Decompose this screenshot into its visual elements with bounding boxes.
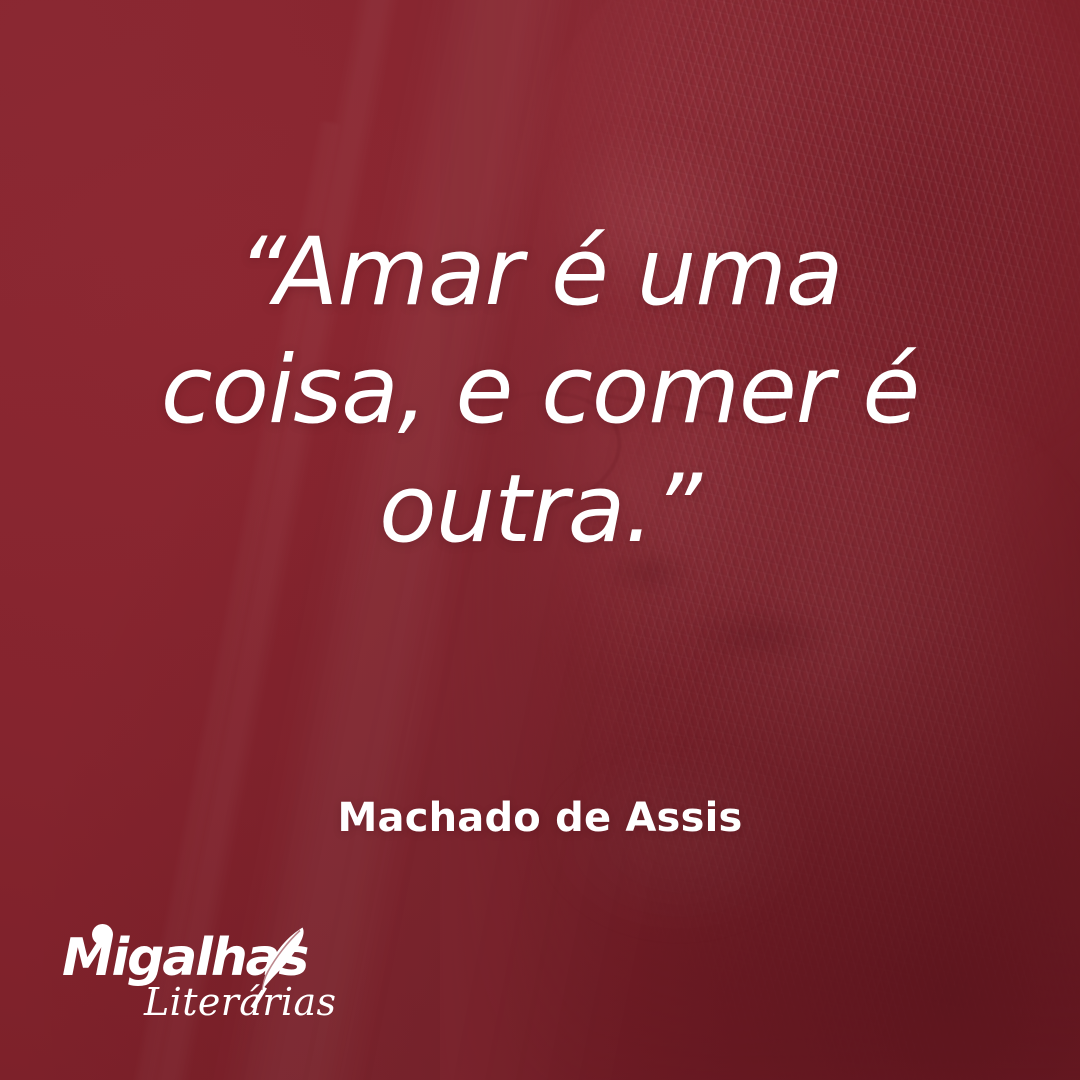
brand-logo[interactable]: Migalhas Literárias (62, 928, 362, 1028)
author-name: Machado de Assis (0, 795, 1080, 841)
quote-card: “Amar é uma coisa, e comer é outra.” Mac… (0, 0, 1080, 1080)
logo-i-dot (92, 924, 113, 945)
quote-text: “Amar é uma coisa, e comer é outra.” (0, 214, 1080, 569)
logo-subtitle: Literárias (144, 983, 336, 1021)
content-layer: “Amar é uma coisa, e comer é outra.” Mac… (0, 0, 1080, 1080)
